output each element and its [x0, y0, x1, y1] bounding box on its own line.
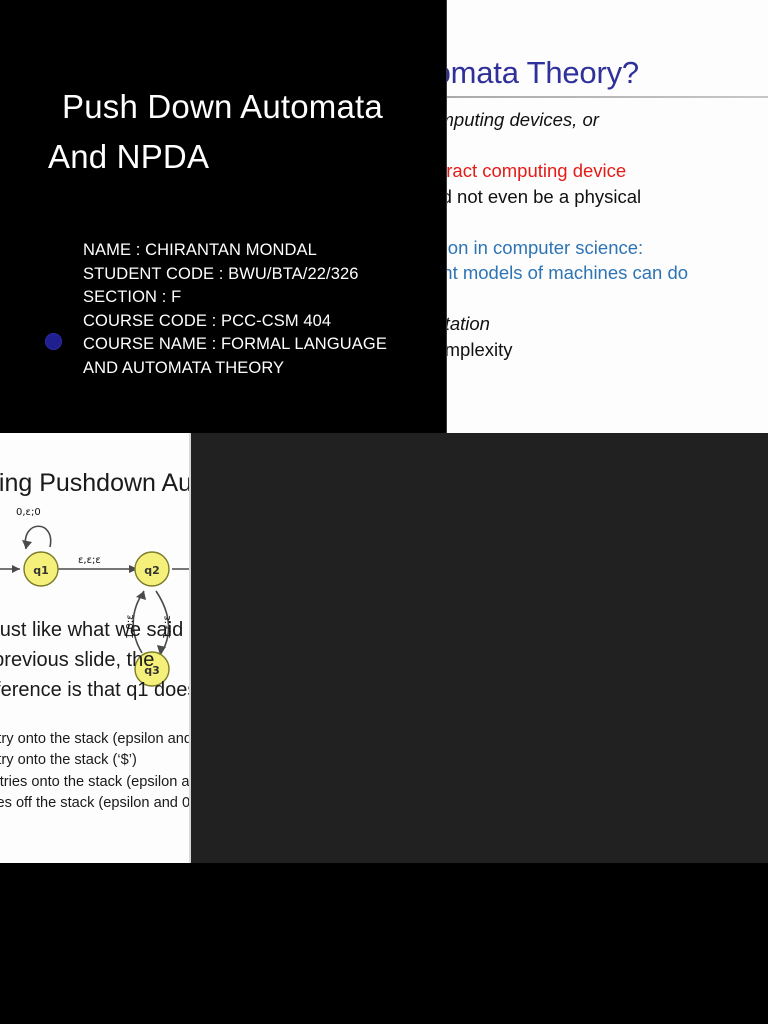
pda-list-line-4: Pops two entries off the stack (epsilon …: [0, 793, 191, 814]
slide-deck-page: Push Down Automata And NPDA NAME : CHIRA…: [0, 0, 768, 1024]
slide-encoding-pushdown[interactable]: Encoding Pushdown Automata ε,ε;$ 0,ε;0 ε…: [0, 433, 191, 865]
automata-body-lines: Study of abstract computing devices, or …: [446, 107, 768, 362]
automata-line-2: “machines”: [446, 133, 768, 159]
automata-line-9: The theory of computation: [446, 311, 768, 337]
info-line-name: NAME : CHIRANTAN MONDAL: [83, 239, 446, 263]
pda-list-line-1: Pushes a 0 entry onto the stack (epsilon…: [0, 729, 191, 750]
pda-note-line-2: on the previous slide, the: [0, 645, 191, 675]
automata-line-7: Find out what different models of machin…: [446, 260, 768, 286]
panel-seam-vertical: [446, 0, 447, 433]
pda-list-line-2: Pushes a $ entry onto the stack (‘$’): [0, 750, 191, 771]
info-line-course-name: COURSE NAME : FORMAL LANGUAGE: [83, 333, 446, 357]
author-info-block: NAME : CHIRANTAN MONDAL STUDENT CODE : B…: [83, 239, 446, 381]
info-line-course-name-cont: AND AUTOMATA THEORY: [83, 357, 446, 381]
pda-note-block: This is just like what we said on the pr…: [0, 615, 191, 705]
automata-line-10: Computability vs. Complexity: [446, 337, 768, 363]
automata-slide-content: What is Automata Theory? Study of abstra…: [446, 55, 768, 362]
svg-text:ε,ε;ε: ε,ε;ε: [78, 555, 101, 566]
automata-line-1: Study of abstract computing devices, or: [446, 107, 768, 133]
title-divider-rule: [446, 96, 768, 98]
automata-line-4: Note: A “device” need not even be a phys…: [446, 184, 768, 210]
pda-slide-title: Encoding Pushdown Automata: [0, 469, 191, 498]
automata-line-8: and cannot do: [446, 286, 768, 312]
slide-introduction[interactable]: INTRODUCTION ➢ A PDA is more powerful th…: [191, 433, 768, 865]
info-line-section: SECTION : F: [83, 286, 446, 310]
slide-automata-theory[interactable]: What is Automata Theory? Study of abstra…: [446, 0, 768, 433]
presentation-title-line1: Push Down Automata: [48, 82, 446, 132]
theory-of-computation-italic: theory of computation: [446, 313, 490, 334]
slide-title-page[interactable]: Push Down Automata And NPDA NAME : CHIRA…: [0, 0, 446, 433]
pda-note-line-3: only difference is that q1 does: [0, 675, 191, 705]
automata-line-5: hardware!: [446, 209, 768, 235]
info-line-student-code: STUDENT CODE : BWU/BTA/22/326: [83, 263, 446, 287]
pda-note-line-1: This is just like what we said: [0, 615, 191, 645]
automata-slide-title: What is Automata Theory?: [446, 55, 768, 91]
presentation-title: Push Down Automata And NPDA: [48, 82, 446, 182]
pda-stack-ops-list: Pushes a 0 entry onto the stack (epsilon…: [0, 729, 191, 814]
svg-text:q2: q2: [144, 564, 160, 577]
pda-list-line-3: Pushes two entries onto the stack (epsil…: [0, 772, 191, 793]
info-line-course-code: COURSE CODE : PCC-CSM 404: [83, 310, 446, 334]
svg-text:0,ε;0: 0,ε;0: [16, 507, 41, 518]
automata-line-3: Automaton = an abstract computing device: [446, 158, 768, 184]
svg-text:q1: q1: [33, 564, 49, 577]
automata-line-6: A fundamental question in computer scien…: [446, 235, 768, 261]
presentation-title-line2: And NPDA: [48, 132, 446, 182]
bullet-dot-icon: [45, 333, 62, 350]
slide-stack-operations[interactable]: A STACK DOES TWO OPERATIONS ➢ PUSH -> A …: [0, 865, 768, 1024]
